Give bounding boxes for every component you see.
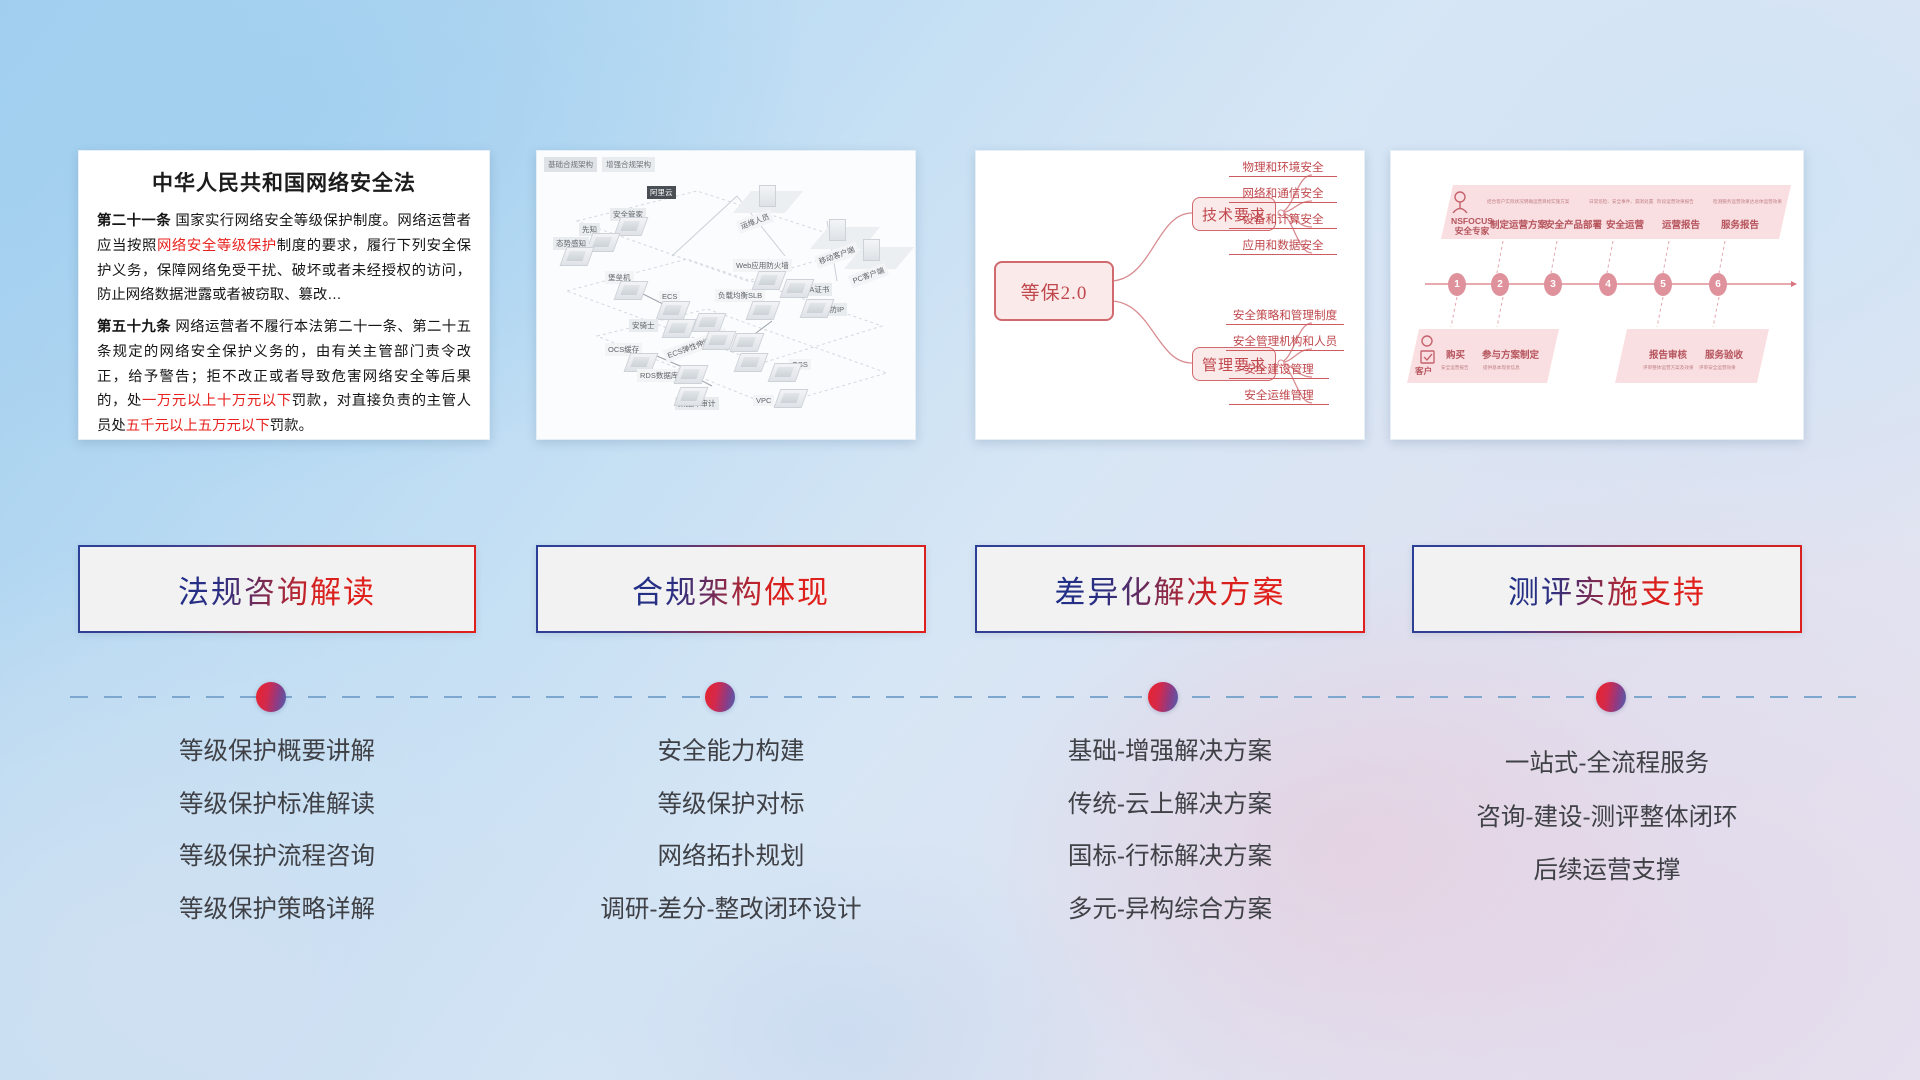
law-highlight: 网络安全等级保护: [157, 238, 277, 254]
step-sub: 安全运营报告: [1441, 365, 1469, 371]
timeline-step-number: 4: [1599, 273, 1617, 296]
card-compliance-architecture[interactable]: 基础合规架构 增强合规架构: [536, 150, 916, 440]
timeline-step-number: 5: [1654, 273, 1672, 296]
law-highlight: 五千元以上五万元以下: [126, 418, 270, 434]
section-title-label: 测评实施支持: [1508, 567, 1706, 612]
customer-label: 客户: [1415, 365, 1432, 377]
list-item: 后续运营支撑: [1412, 859, 1802, 884]
list-item: 调研-差分-整改闭环设计: [536, 898, 926, 923]
section-title-label: 差异化解决方案: [1055, 567, 1286, 612]
node-vpc: VPC: [753, 395, 774, 406]
timeline-step-number: 6: [1709, 273, 1727, 296]
law-document: 中华人民共和国网络安全法 第二十一条 国家实行网络安全等级保护制度。网络运营者应…: [79, 151, 489, 439]
section-title-label: 合规架构体现: [632, 567, 830, 612]
step-sub: 实施方案: [1551, 199, 1569, 205]
timeline-step-number: 3: [1544, 273, 1562, 296]
mindmap-leaf: 安全建设管理: [1229, 361, 1329, 379]
mindmap-leaf: 安全运维管理: [1229, 387, 1329, 405]
step-title: 参与方案制定: [1482, 347, 1539, 361]
list-item: 等级保护概要讲解: [78, 740, 476, 765]
card-nsfocus-service-flow[interactable]: NSFOCUS安全专家 客户 结合客户实际状况明确运营目标 制定运营方案 实施方…: [1390, 150, 1804, 440]
list-item: 咨询-建设-测评整体闭环: [1412, 806, 1802, 831]
step-sub: 提供基本现状信息: [1483, 365, 1520, 371]
law-article-number: 第二十一条: [97, 213, 171, 229]
timeline-dashed-line: [70, 696, 1860, 698]
card-cybersecurity-law[interactable]: 中华人民共和国网络安全法 第二十一条 国家实行网络安全等级保护制度。网络运营者应…: [78, 150, 490, 440]
nsfocus-timeline: NSFOCUS安全专家 客户 结合客户实际状况明确运营目标 制定运营方案 实施方…: [1391, 151, 1803, 439]
step-sub: 日常巡检、安全事件、漏洞处置: [1589, 199, 1653, 205]
step-title: 运营报告: [1662, 217, 1700, 231]
section-title-row: 法规咨询解读 合规架构体现 差异化解决方案 测评实施支持: [0, 545, 1920, 637]
step-sub: 阶段运营效果报告: [1657, 199, 1694, 205]
step-sub: 结合客户实际状况明确运营目标: [1487, 199, 1551, 205]
step-sub: 评审整体运营方案及效果: [1643, 365, 1694, 371]
law-paragraph-59: 第五十九条 网络运营者不履行本法第二十一条、第二十五条规定的网络安全保护义务的，…: [97, 315, 471, 439]
step-title: 安全运营: [1606, 217, 1644, 231]
section-title-box-3[interactable]: 差异化解决方案: [975, 545, 1365, 633]
section-title-box-1[interactable]: 法规咨询解读: [78, 545, 476, 633]
section-items-1: 等级保护概要讲解 等级保护标准解读 等级保护流程咨询 等级保护策略详解: [78, 740, 476, 950]
timeline-marker-3[interactable]: [1148, 682, 1178, 712]
law-title: 中华人民共和国网络安全法: [97, 167, 471, 197]
section-title-box-2[interactable]: 合规架构体现: [536, 545, 926, 633]
step-title: 安全产品部署: [1545, 217, 1602, 231]
section-items-3: 基础-增强解决方案 传统-云上解决方案 国标-行标解决方案 多元-异构综合方案: [975, 740, 1365, 950]
law-text: 罚款。: [270, 418, 313, 434]
list-item: 等级保护策略详解: [78, 898, 476, 923]
list-item: 多元-异构综合方案: [975, 898, 1365, 923]
image-card-row: 中华人民共和国网络安全法 第二十一条 国家实行网络安全等级保护制度。网络运营者应…: [0, 150, 1920, 440]
list-item: 传统-云上解决方案: [975, 793, 1365, 818]
mindmap-leaf: 应用和数据安全: [1229, 237, 1337, 255]
list-item: 一站式-全流程服务: [1412, 752, 1802, 777]
step-sub: 评审安全运营效果: [1699, 365, 1736, 371]
mindmap-leaf: 网络和通信安全: [1229, 185, 1337, 203]
mindmap-root-node: 等保2.0: [994, 261, 1114, 321]
list-item: 国标-行标解决方案: [975, 845, 1365, 870]
timeline-marker-1[interactable]: [256, 682, 286, 712]
step-title: 制定运营方案: [1490, 217, 1547, 231]
architecture-diagram: 基础合规架构 增强合规架构: [537, 151, 915, 439]
timeline-marker-2[interactable]: [705, 682, 735, 712]
section-title-box-4[interactable]: 测评实施支持: [1412, 545, 1802, 633]
step-title: 报告审核: [1649, 347, 1687, 361]
slide-root: 中华人民共和国网络安全法 第二十一条 国家实行网络安全等级保护制度。网络运营者应…: [0, 0, 1920, 1080]
mindmap-leaf: 安全管理机构和人员: [1226, 333, 1344, 351]
law-paragraph-21: 第二十一条 国家实行网络安全等级保护制度。网络运营者应当按照网络安全等级保护制度…: [97, 209, 471, 308]
section-items-4: 一站式-全流程服务 咨询-建设-测评整体闭环 后续运营支撑: [1412, 752, 1802, 913]
card-dengbao-mindmap[interactable]: 等保2.0 技术要求 管理要求 物理和环境安全 网络和通信安全 设备和计算安全 …: [975, 150, 1365, 440]
step-title: 服务报告: [1721, 217, 1759, 231]
timeline-step-number: 1: [1448, 273, 1466, 296]
mindmap-leaf: 安全策略和管理制度: [1226, 307, 1344, 325]
section-title-label: 法规咨询解读: [178, 567, 376, 612]
list-item: 等级保护对标: [536, 793, 926, 818]
step-title: 服务验收: [1705, 347, 1743, 361]
section-items-2: 安全能力构建 等级保护对标 网络拓扑规划 调研-差分-整改闭环设计: [536, 740, 926, 950]
list-item: 基础-增强解决方案: [975, 740, 1365, 765]
law-article-number: 第五十九条: [97, 319, 171, 335]
timeline-step-number: 2: [1491, 273, 1509, 296]
mindmap-leaf: 设备和计算安全: [1229, 211, 1337, 229]
node-anqishi: 安骑士: [629, 319, 658, 332]
law-highlight: 一万元以上十万元以下: [142, 393, 292, 409]
step-sub: 检测服务运营效果达总体运营效果: [1713, 199, 1782, 205]
list-item: 安全能力构建: [536, 740, 926, 765]
list-item: 网络拓扑规划: [536, 845, 926, 870]
timeline-marker-4[interactable]: [1596, 682, 1626, 712]
node-aliyun: 阿里云: [647, 186, 676, 199]
step-title: 购买: [1446, 347, 1465, 361]
list-item: 等级保护流程咨询: [78, 845, 476, 870]
mindmap: 等保2.0 技术要求 管理要求 物理和环境安全 网络和通信安全 设备和计算安全 …: [976, 151, 1364, 439]
list-item: 等级保护标准解读: [78, 793, 476, 818]
mindmap-leaf: 物理和环境安全: [1229, 159, 1337, 177]
